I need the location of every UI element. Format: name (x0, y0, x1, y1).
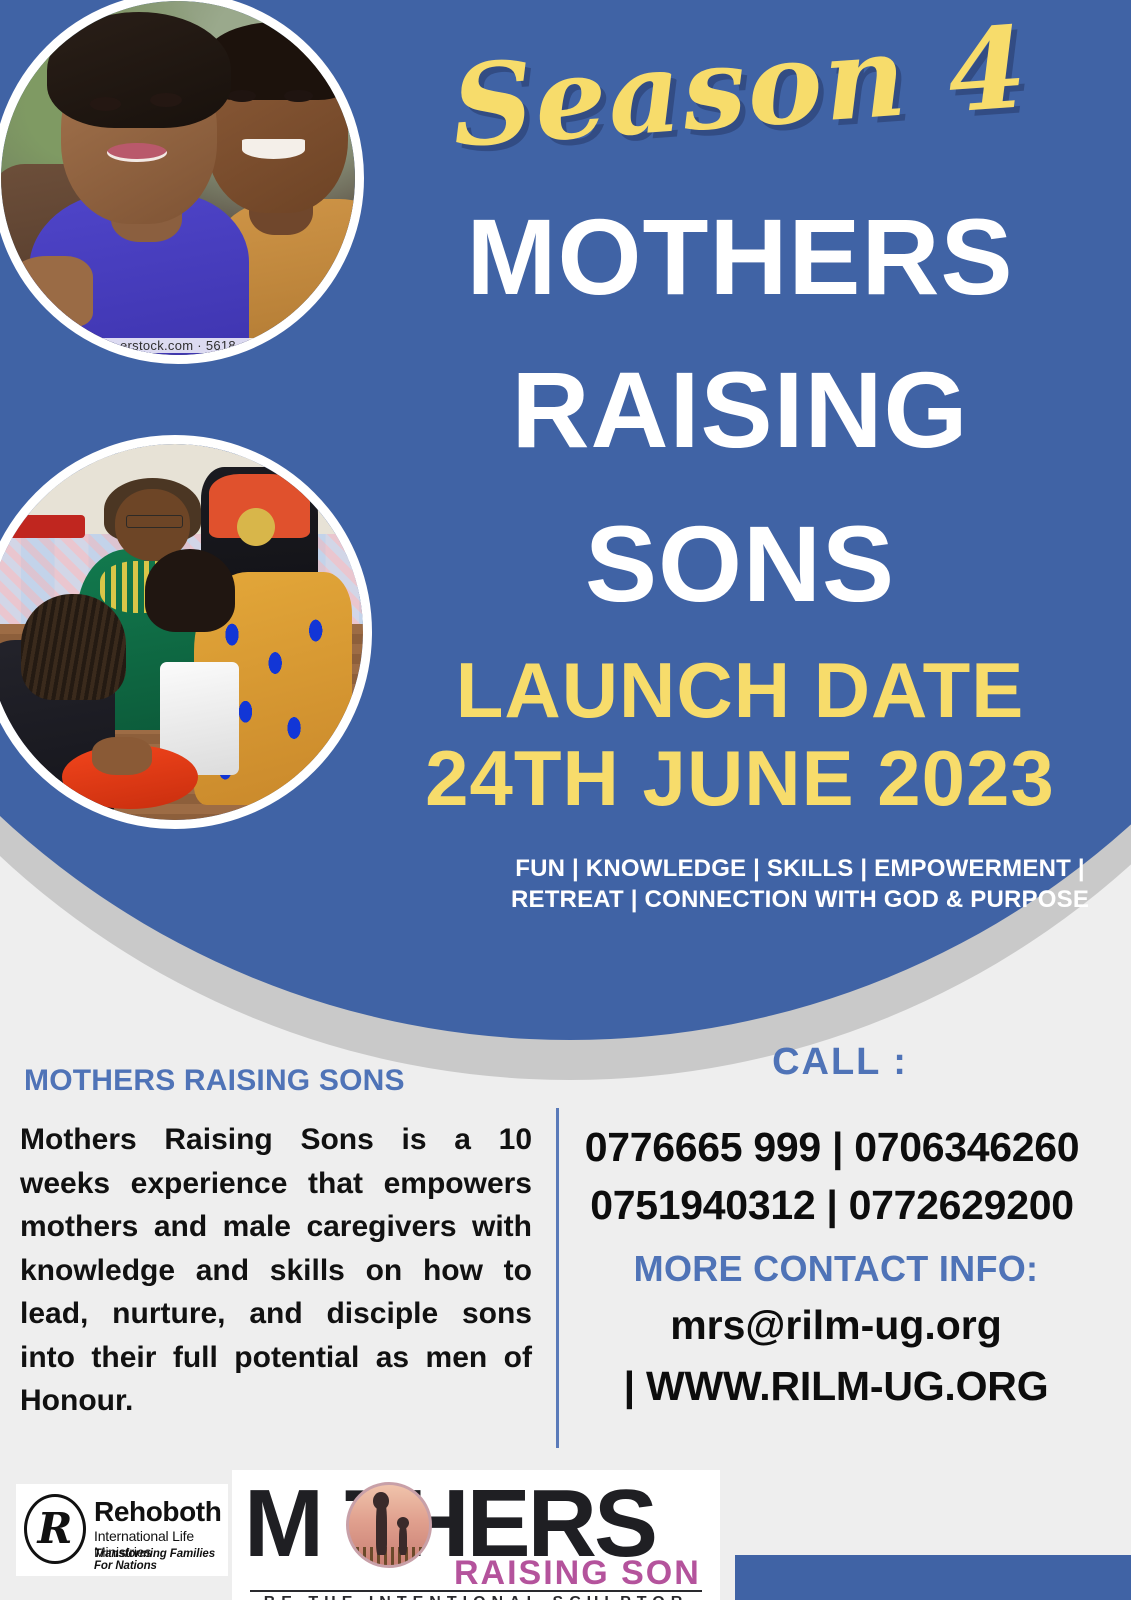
more-contact-info-label: MORE CONTACT INFO: (556, 1248, 1116, 1290)
rehoboth-monogram-letter: R (38, 1508, 73, 1550)
woman-yellow-hair (145, 549, 235, 632)
photo-mother-and-son: ...erstock.com · 5618... (0, 0, 364, 364)
photo-mother-and-son-inner: ...erstock.com · 5618... (1, 1, 355, 355)
tagline-line-2: RETREAT | CONNECTION WITH GOD & PURPOSE (500, 884, 1100, 917)
tagline-line-1: FUN | KNOWLEDGE | SKILLS | EMPOWERMENT | (500, 853, 1100, 886)
stock-watermark: ...erstock.com · 5618... (1, 338, 355, 353)
child-silhouette-head (397, 1517, 409, 1529)
about-body-text: Mothers Raising Sons is a 10 weeks exper… (20, 1118, 532, 1423)
photo-women-workshop-inner (0, 444, 363, 820)
rehoboth-tagline: Transforming Families For Nations (94, 1548, 228, 1572)
photo-women-workshop (0, 435, 372, 829)
call-label: CALL : (560, 1041, 1120, 1084)
mother-hair (47, 12, 231, 129)
launch-date-label: LAUNCH DATE (370, 645, 1110, 736)
woman-standing-gold-motif (220, 497, 291, 557)
email-address[interactable]: mrs@rilm-ug.org (556, 1302, 1116, 1349)
grass-silhouette (349, 1547, 429, 1565)
mother-eye-right (150, 93, 182, 107)
about-heading: MOTHERS RAISING SONS (24, 1064, 524, 1098)
son-eye-left (228, 90, 256, 103)
headline-line-1: MOTHERS (370, 205, 1110, 309)
poster-canvas: ...erstock.com · 5618... (0, 0, 1131, 1600)
son-smile (242, 139, 306, 158)
mrs-tagline: BE THE INTENTIONAL SCULPTOR (250, 1590, 702, 1600)
headline-line-3: SONS (370, 512, 1110, 616)
son-eye-right (284, 90, 312, 103)
rehoboth-name: Rehoboth (94, 1496, 221, 1528)
eyeglasses (126, 515, 182, 528)
mothers-raising-son-logo: M THERS RAISING SON BE THE INTENTIONAL S… (232, 1470, 720, 1600)
mother-smile (107, 143, 167, 162)
rehoboth-monogram-icon: R (24, 1494, 86, 1564)
mother-silhouette-head (373, 1492, 389, 1510)
phone-numbers-line-2[interactable]: 0751940312 | 0772629200 (542, 1182, 1122, 1229)
red-shelf (2, 515, 85, 538)
phone-numbers-line-1[interactable]: 0776665 999 | 0706346260 (542, 1124, 1122, 1171)
mother-and-child-silhouette-icon (346, 1482, 432, 1568)
washing-hands (92, 737, 152, 775)
woman-braided-hair (21, 594, 126, 699)
headline-line-2: RAISING (370, 358, 1110, 462)
rehoboth-logo: R Rehoboth International Life Ministries… (16, 1484, 228, 1576)
mother-eye-left (90, 97, 122, 111)
mother-arm (1, 256, 93, 327)
website-url[interactable]: | WWW.RILM-UG.ORG (556, 1363, 1116, 1410)
launch-date-value: 24TH JUNE 2023 (370, 733, 1110, 824)
mrs-subtitle: RAISING SON (454, 1554, 701, 1593)
